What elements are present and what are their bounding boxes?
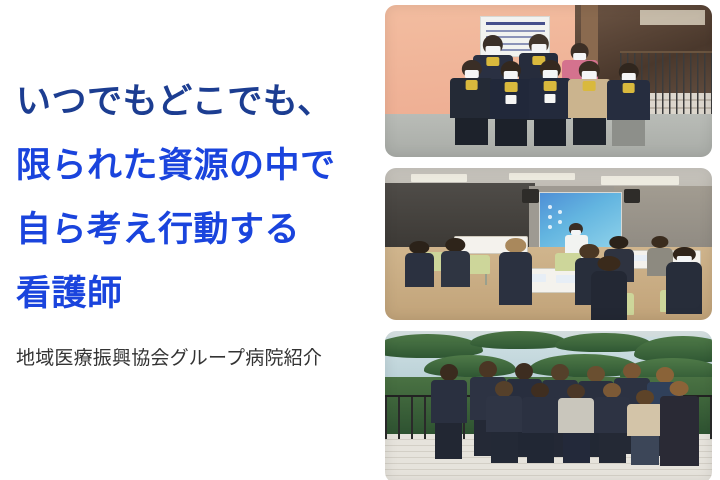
headline-line-2: 限られた資源の中で <box>16 134 372 198</box>
attendee <box>591 256 627 320</box>
torso <box>405 253 434 286</box>
name-badge <box>545 94 556 103</box>
headline-block: いつでもどこでも、 限られた資源の中で 自ら考え行動する 看護師 <box>16 70 372 326</box>
lanyard <box>544 81 557 91</box>
legs <box>573 118 605 145</box>
torso <box>594 397 630 432</box>
legs <box>534 119 566 147</box>
torso <box>558 398 594 433</box>
head <box>479 361 497 378</box>
head <box>446 238 465 252</box>
ceiling-light-panel-3 <box>601 176 679 185</box>
person-wave-f5 <box>627 390 663 464</box>
head <box>551 364 569 381</box>
head <box>597 256 620 271</box>
head <box>609 236 628 249</box>
person-front-4 <box>568 61 611 145</box>
legs <box>435 423 462 459</box>
lanyard <box>465 80 478 90</box>
photo-2-scene <box>385 168 712 320</box>
torso <box>522 397 558 432</box>
head <box>603 383 621 398</box>
head <box>410 241 429 254</box>
subtitle: 地域医療振興協会グループ病院紹介 <box>16 346 322 372</box>
torso <box>486 396 522 432</box>
torso <box>591 271 627 320</box>
speaker-right <box>624 189 640 203</box>
photo-group-building <box>385 5 712 157</box>
torso <box>660 396 699 467</box>
screen-dot <box>558 220 562 224</box>
legs <box>455 118 487 145</box>
head <box>670 381 689 396</box>
ceiling-light-panel-1 <box>411 174 467 182</box>
person-front-3 <box>529 60 572 147</box>
person-wave-f4 <box>594 383 630 464</box>
face-mask <box>677 256 691 262</box>
photo-column <box>385 5 712 475</box>
torso <box>666 262 702 314</box>
island <box>470 331 568 349</box>
legs <box>491 432 518 463</box>
ceiling-light-panel-2 <box>509 173 574 181</box>
screen-dot <box>548 215 552 219</box>
lanyard <box>583 81 596 91</box>
headline-line-3: 自ら考え行動する <box>16 198 372 262</box>
legs <box>495 119 527 146</box>
legs <box>612 120 644 147</box>
ceiling-light <box>640 10 705 25</box>
lanyard <box>505 82 518 92</box>
attendee <box>499 238 532 305</box>
face-mask <box>531 44 546 53</box>
person-wave-b1 <box>431 364 467 458</box>
person-wave-f2 <box>522 383 558 464</box>
head <box>587 366 605 382</box>
head <box>505 238 527 253</box>
legs <box>527 433 554 464</box>
face-mask <box>485 46 500 54</box>
person-front-2 <box>490 61 533 146</box>
chair-leg <box>485 274 487 285</box>
person-front-1 <box>450 60 493 145</box>
torso <box>441 251 470 286</box>
banner-root: いつでもどこでも、 限られた資源の中で 自ら考え行動する 看護師 地域医療振興協… <box>0 0 720 480</box>
speaker-left <box>522 189 538 203</box>
head <box>440 364 458 381</box>
headline-line-4: 看護師 <box>16 262 372 326</box>
torso <box>499 252 532 305</box>
person-wave-f6 <box>660 381 699 466</box>
headline-line-1: いつでもどこでも、 <box>16 70 372 134</box>
photo-1-scene <box>385 5 712 157</box>
screen-dot <box>558 210 562 214</box>
torso <box>627 404 663 436</box>
attendee <box>405 241 434 287</box>
copy-column: いつでもどこでも、 限られた資源の中で 自ら考え行動する 看護師 地域医療振興協… <box>0 0 380 480</box>
screen-dot <box>548 205 552 209</box>
person-wave-f1 <box>486 381 522 463</box>
attendee <box>441 238 470 287</box>
head <box>623 363 641 379</box>
legs <box>599 433 626 464</box>
legs <box>563 433 590 463</box>
head <box>495 381 513 397</box>
torso <box>431 380 467 422</box>
head <box>531 383 549 398</box>
head <box>515 363 533 380</box>
screen-dot <box>548 225 552 229</box>
photo-coastal-viewpoint <box>385 331 712 480</box>
lanyard <box>622 83 635 93</box>
legs <box>631 436 658 464</box>
photo-seminar-room <box>385 168 712 320</box>
person-wave-f3 <box>558 384 594 463</box>
photo-3-scene <box>385 331 712 480</box>
person-front-5 <box>607 63 650 147</box>
head <box>636 390 654 405</box>
name-badge <box>505 95 516 104</box>
face-mask <box>573 53 587 61</box>
attendee <box>666 247 702 314</box>
head <box>567 384 585 399</box>
